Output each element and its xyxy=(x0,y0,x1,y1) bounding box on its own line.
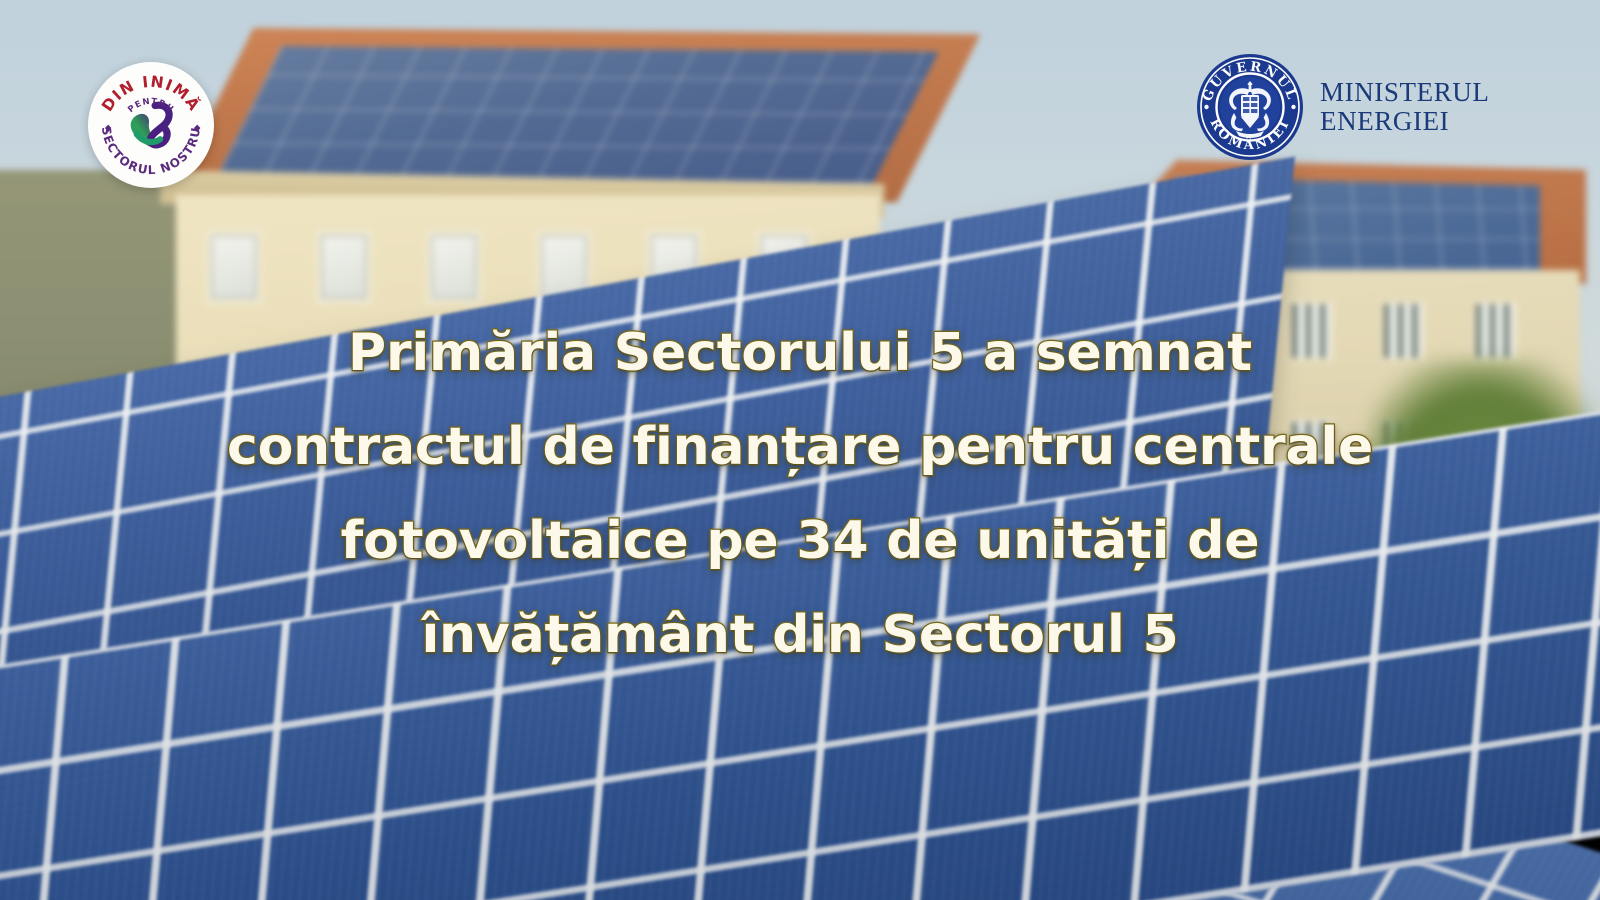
headline-line-1: Primăria Sectorului 5 a semnat xyxy=(0,306,1600,400)
ministry-line-1: MINISTERUL xyxy=(1320,78,1490,107)
headline: Primăria Sectorului 5 a semnat contractu… xyxy=(0,306,1600,682)
guvernul-romaniei-seal-icon: GUVERNUL ROMÂNIEI xyxy=(1196,53,1304,161)
government-ministry-logo: GUVERNUL ROMÂNIEI MINISTERUL ENERGIEI xyxy=(1196,52,1490,162)
announcement-poster: DIN INIMĂ PENTRU SECTORUL NOSTRU xyxy=(0,0,1600,900)
ministry-name: MINISTERUL ENERGIEI xyxy=(1320,78,1490,136)
headline-line-2: contractul de finanțare pentru centrale xyxy=(0,400,1600,494)
din-inima-logo: DIN INIMĂ PENTRU SECTORUL NOSTRU xyxy=(88,62,214,188)
headline-line-4: învățământ din Sectorul 5 xyxy=(0,588,1600,682)
headline-line-3: fotovoltaice pe 34 de unități de xyxy=(0,494,1600,588)
ministry-line-2: ENERGIEI xyxy=(1320,107,1490,136)
